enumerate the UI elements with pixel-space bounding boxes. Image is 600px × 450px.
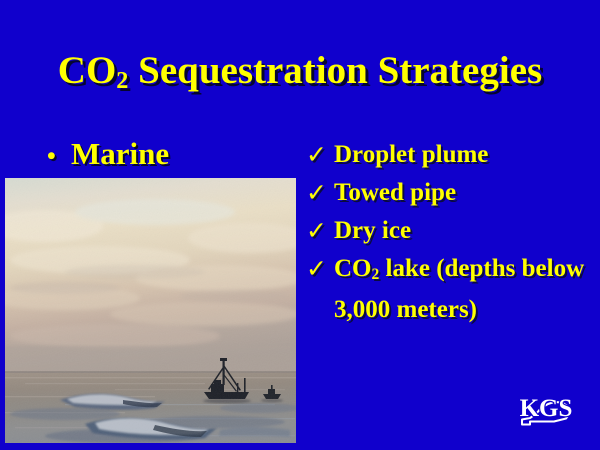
marine-bullet-line: •Marine [47,136,169,172]
strategy-checklist: ✓ Droplet plume ✓ Towed pipe ✓ Dry ice ✓… [306,136,586,329]
check-icon: ✓ [306,250,327,288]
check-icon: ✓ [306,174,327,212]
kgs-logo-text: KGS [520,395,573,422]
checklist-item-label: Towed pipe [334,179,456,206]
checklist-item: ✓ Dry ice [306,212,586,250]
checklist-item-text: Dry ice [334,217,411,244]
slide-title-subscript: 2 [116,67,128,94]
kgs-logo: KGS [508,388,586,436]
checklist-item-text: Towed pipe [334,179,456,206]
checklist-item-label: Dry ice [334,217,411,244]
checklist-item-label: Droplet plume [334,141,488,168]
slide-title: CO2 Sequestration Strategies [0,51,600,92]
checklist-item-text: Droplet plume [334,141,488,168]
bullet-dot-icon: • [47,144,71,169]
check-icon: ✓ [306,136,327,174]
kgs-logo-graphic: KGS [508,388,586,436]
checklist-item: ✓ CO2 lake (depths below 3,000 meters) [306,250,586,329]
marine-label: Marine [71,136,169,171]
slide-canvas: CO2 Sequestration Strategies •Marine [0,0,600,450]
ocean-photo-graphic [5,178,296,443]
checklist-item-subscript: 2 [372,266,380,283]
marine-photo [5,178,296,443]
check-icon: ✓ [306,212,327,250]
slide-title-suffix: Sequestration Strategies [128,49,542,92]
checklist-item: ✓ Towed pipe [306,174,586,212]
checklist-item: ✓ Droplet plume [306,136,586,174]
checklist-item-text: CO [334,255,372,282]
slide-title-prefix: CO [58,49,117,92]
checklist-item-label: CO2 lake (depths below 3,000 meters) [334,255,584,323]
